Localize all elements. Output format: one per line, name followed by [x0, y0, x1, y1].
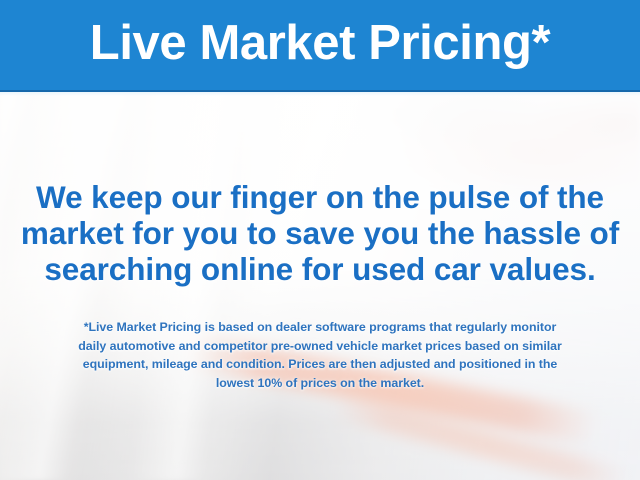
headline-line: We keep our finger on the pulse of the	[0, 179, 640, 215]
headline-block: We keep our finger on the pulse of the m…	[0, 179, 640, 287]
disclaimer-line: *Live Market Pricing is based on dealer …	[0, 318, 640, 337]
headline-line: searching online for used car values.	[0, 251, 640, 287]
header-band: Live Market Pricing*	[0, 0, 640, 90]
disclaimer-line: lowest 10% of prices on the market.	[0, 374, 640, 393]
disclaimer-line: daily automotive and competitor pre-owne…	[0, 337, 640, 356]
live-market-pricing-banner: Live Market Pricing* We keep our finger …	[0, 0, 640, 480]
header-glow-strip	[0, 92, 640, 96]
disclaimer-line: equipment, mileage and condition. Prices…	[0, 355, 640, 374]
headline-line: market for you to save you the hassle of	[0, 215, 640, 251]
page-title: Live Market Pricing*	[90, 19, 550, 71]
disclaimer-block: *Live Market Pricing is based on dealer …	[0, 318, 640, 392]
